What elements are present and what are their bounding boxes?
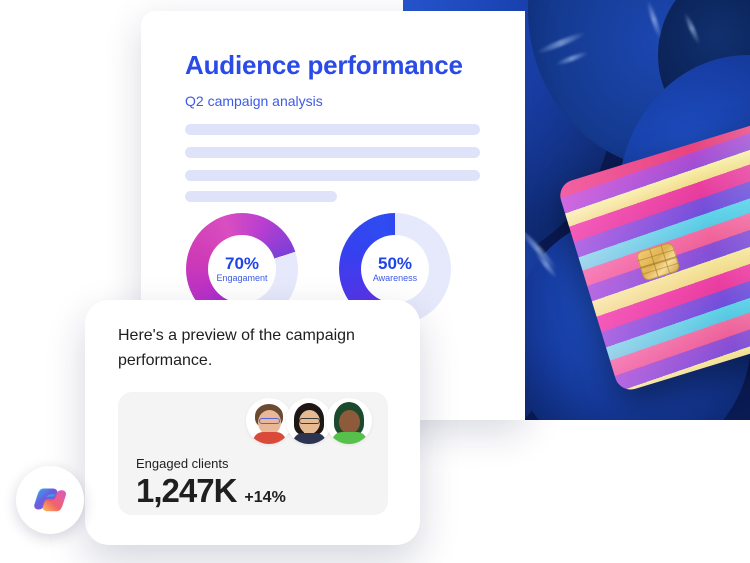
copilot-badge[interactable]	[16, 466, 84, 534]
stat-row: 1,247K +14%	[136, 472, 286, 510]
donut-value: 70%	[225, 255, 259, 273]
stat-delta: +14%	[244, 489, 285, 507]
avatar-group	[252, 398, 372, 444]
copilot-logo-icon	[32, 482, 68, 518]
placeholder-text-line	[185, 191, 337, 202]
donut-center: 50% Awareness	[361, 235, 429, 303]
page-subtitle: Q2 campaign analysis	[185, 93, 323, 109]
stat-label: Engaged clients	[136, 456, 229, 471]
donut-center: 70% Engagament	[208, 235, 276, 303]
avatar	[326, 398, 372, 444]
donut-label: Awareness	[373, 273, 417, 283]
stat-value: 1,247K	[136, 472, 236, 510]
page-title: Audience performance	[185, 50, 463, 81]
donut-value: 50%	[378, 255, 412, 273]
stat-panel: Engaged clients 1,247K +14%	[118, 392, 388, 515]
placeholder-text-line	[185, 147, 480, 158]
placeholder-text-line	[185, 124, 480, 135]
screenshot-stage: Audience performance Q2 campaign analysi…	[0, 0, 750, 563]
donut-label: Engagament	[216, 273, 267, 283]
chat-message: Here's a preview of the campaign perform…	[118, 324, 388, 374]
placeholder-text-line	[185, 170, 480, 181]
chat-preview-card: Here's a preview of the campaign perform…	[85, 300, 420, 545]
